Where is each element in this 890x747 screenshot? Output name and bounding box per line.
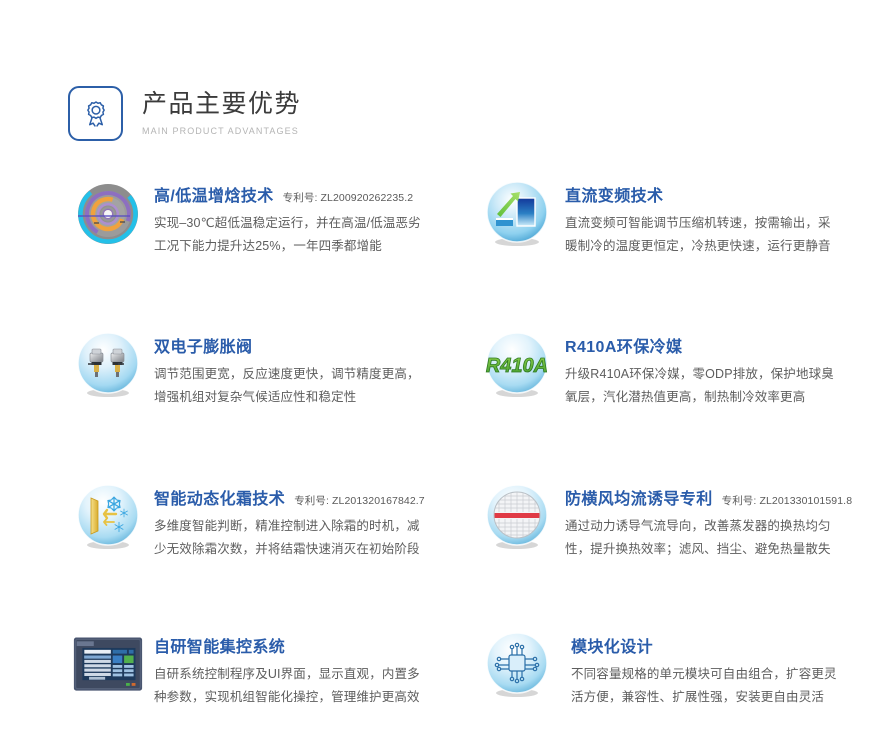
desc-line: 暖制冷的温度更恒定，冷热更快速，运行更静音 [565, 235, 831, 258]
feature-patent-number: 专利号: ZL201320167842.7 [294, 493, 425, 508]
feature-text-6: 自研智能集控系统 自研系统控制程序及UI界面，显示直观，内置多 种参数，实现机组… [154, 629, 420, 709]
feature-title: 防横风均流诱导专利 [565, 485, 713, 509]
svg-text:R410A: R410A [486, 355, 548, 377]
feature-row: 高/低温增焓技术 专利号: ZL200920262235.2 实现–30℃超低温… [0, 178, 890, 258]
feature-description: 自研系统控制程序及UI界面，显示直观，内置多 种参数，实现机组智能化操控，管理维… [154, 663, 420, 709]
feature-description: 直流变频可智能调节压缩机转速，按需输出，采 暖制冷的温度更恒定，冷热更快速，运行… [565, 212, 831, 258]
feature-row: 智能动态化霜技术 专利号: ZL201320167842.7 多维度智能判断，精… [0, 481, 890, 561]
feature-item-0: 高/低温增焓技术 专利号: ZL200920262235.2 实现–30℃超低温… [72, 178, 481, 258]
feature-heading: 自研智能集控系统 [154, 633, 420, 657]
desc-line: 活方便，兼容性、扩展性强，安装更自由灵活 [571, 686, 837, 709]
feature-item-7: 模块化设计 不同容量规格的单元模块可自由组合，扩容更灵 活方便，兼容性、扩展性强… [481, 629, 890, 709]
feature-title: 自研智能集控系统 [154, 633, 285, 657]
feature-description: 实现–30℃超低温稳定运行，并在高温/低温恶劣 工况下能力提升达25%，一年四季… [154, 212, 421, 258]
desc-line: 升级R410A环保冷媒，零ODP排放，保护地球臭 [565, 363, 834, 386]
award-badge-icon [68, 86, 123, 141]
snowflake-defrost-icon [72, 481, 144, 553]
modular-chip-icon [481, 629, 553, 701]
desc-line: 性，提升换热效率；滤风、挡尘、避免热量散失 [565, 538, 852, 561]
desc-line: 不同容量规格的单元模块可自由组合，扩容更灵 [571, 663, 837, 686]
feature-item-1: 直流变频技术 直流变频可智能调节压缩机转速，按需输出，采 暖制冷的温度更恒定，冷… [481, 178, 890, 258]
feature-patent-number: 专利号: ZL200920262235.2 [283, 190, 414, 205]
feature-description: 升级R410A环保冷媒，零ODP排放，保护地球臭 氧层，汽化潜热值更高，制热制冷… [565, 363, 834, 409]
desc-line: 氧层，汽化潜热值更高，制热制冷效率更高 [565, 386, 834, 409]
feature-text-5: 防横风均流诱导专利 专利号: ZL201330101591.8 通过动力诱导气流… [565, 481, 852, 561]
feature-item-3: R410A R410A环保冷媒 升级R410A环保冷媒，零ODP排放，保护地球臭… [481, 329, 890, 409]
feature-row: 双电子膨胀阀 调节范围更宽，反应速度更快，调节精度更高， 增强机组对复杂气候适应… [0, 329, 890, 409]
feature-patent-number: 专利号: ZL201330101591.8 [722, 493, 853, 508]
feature-heading: 双电子膨胀阀 [154, 333, 420, 357]
feature-text-0: 高/低温增焓技术 专利号: ZL200920262235.2 实现–30℃超低温… [154, 178, 421, 258]
section-header: 产品主要优势 MAIN PRODUCT ADVANTAGES [68, 86, 301, 141]
feature-text-3: R410A环保冷媒 升级R410A环保冷媒，零ODP排放，保护地球臭 氧层，汽化… [565, 329, 834, 409]
feature-grid: 高/低温增焓技术 专利号: ZL200920262235.2 实现–30℃超低温… [0, 178, 890, 709]
page-subtitle: MAIN PRODUCT ADVANTAGES [142, 126, 301, 136]
desc-line: 多维度智能判断，精准控制进入除霜的时机，减 [154, 515, 425, 538]
feature-description: 调节范围更宽，反应速度更快，调节精度更高， 增强机组对复杂气候适应性和稳定性 [154, 363, 420, 409]
desc-line: 自研系统控制程序及UI界面，显示直观，内置多 [154, 663, 420, 686]
airflow-grille-icon [481, 481, 553, 553]
desc-line: 工况下能力提升达25%，一年四季都增能 [154, 235, 421, 258]
feature-title: 直流变频技术 [565, 182, 663, 206]
feature-heading: 模块化设计 [571, 633, 837, 657]
feature-title: 智能动态化霜技术 [154, 485, 285, 509]
feature-heading: R410A环保冷媒 [565, 333, 834, 357]
page-title: 产品主要优势 [142, 88, 301, 120]
feature-text-1: 直流变频技术 直流变频可智能调节压缩机转速，按需输出，采 暖制冷的温度更恒定，冷… [565, 178, 831, 258]
dc-inverter-chart-icon [481, 178, 553, 250]
product-advantages-page: 产品主要优势 MAIN PRODUCT ADVANTAGES [0, 0, 890, 747]
dual-electronic-expansion-valve-icon [72, 329, 144, 401]
feature-title: 高/低温增焓技术 [154, 182, 274, 206]
feature-title: R410A环保冷媒 [565, 333, 682, 357]
feature-row: 自研智能集控系统 自研系统控制程序及UI界面，显示直观，内置多 种参数，实现机组… [0, 629, 890, 709]
feature-description: 通过动力诱导气流导向，改善蒸发器的换热均匀 性，提升换热效率；滤风、挡尘、避免热… [565, 515, 852, 561]
desc-line: 调节范围更宽，反应速度更快，调节精度更高， [154, 363, 420, 386]
desc-line: 直流变频可智能调节压缩机转速，按需输出，采 [565, 212, 831, 235]
feature-text-2: 双电子膨胀阀 调节范围更宽，反应速度更快，调节精度更高， 增强机组对复杂气候适应… [154, 329, 420, 409]
feature-description: 多维度智能判断，精准控制进入除霜的时机，减 少无效除霜次数，并将结霜快速消灭在初… [154, 515, 425, 561]
feature-description: 不同容量规格的单元模块可自由组合，扩容更灵 活方便，兼容性、扩展性强，安装更自由… [571, 663, 837, 709]
desc-line: 种参数，实现机组智能化操控，管理维护更高效 [154, 686, 420, 709]
feature-item-5: 防横风均流诱导专利 专利号: ZL201330101591.8 通过动力诱导气流… [481, 481, 890, 561]
feature-title: 双电子膨胀阀 [154, 333, 252, 357]
r410a-refrigerant-icon: R410A [481, 329, 553, 401]
feature-heading: 直流变频技术 [565, 182, 831, 206]
feature-title: 模块化设计 [571, 633, 653, 657]
feature-item-2: 双电子膨胀阀 调节范围更宽，反应速度更快，调节精度更高， 增强机组对复杂气候适应… [72, 329, 481, 409]
feature-heading: 防横风均流诱导专利 专利号: ZL201330101591.8 [565, 485, 852, 509]
feature-heading: 高/低温增焓技术 专利号: ZL200920262235.2 [154, 182, 421, 206]
hmi-control-panel-icon [72, 629, 144, 701]
spiral-vortex-icon [72, 178, 144, 250]
feature-text-7: 模块化设计 不同容量规格的单元模块可自由组合，扩容更灵 活方便，兼容性、扩展性强… [571, 629, 837, 709]
desc-line: 实现–30℃超低温稳定运行，并在高温/低温恶劣 [154, 212, 421, 235]
feature-item-6: 自研智能集控系统 自研系统控制程序及UI界面，显示直观，内置多 种参数，实现机组… [72, 629, 481, 709]
desc-line: 通过动力诱导气流导向，改善蒸发器的换热均匀 [565, 515, 852, 538]
desc-line: 少无效除霜次数，并将结霜快速消灭在初始阶段 [154, 538, 425, 561]
feature-text-4: 智能动态化霜技术 专利号: ZL201320167842.7 多维度智能判断，精… [154, 481, 425, 561]
feature-item-4: 智能动态化霜技术 专利号: ZL201320167842.7 多维度智能判断，精… [72, 481, 481, 561]
desc-line: 增强机组对复杂气候适应性和稳定性 [154, 386, 420, 409]
header-text-block: 产品主要优势 MAIN PRODUCT ADVANTAGES [142, 86, 301, 136]
feature-heading: 智能动态化霜技术 专利号: ZL201320167842.7 [154, 485, 425, 509]
